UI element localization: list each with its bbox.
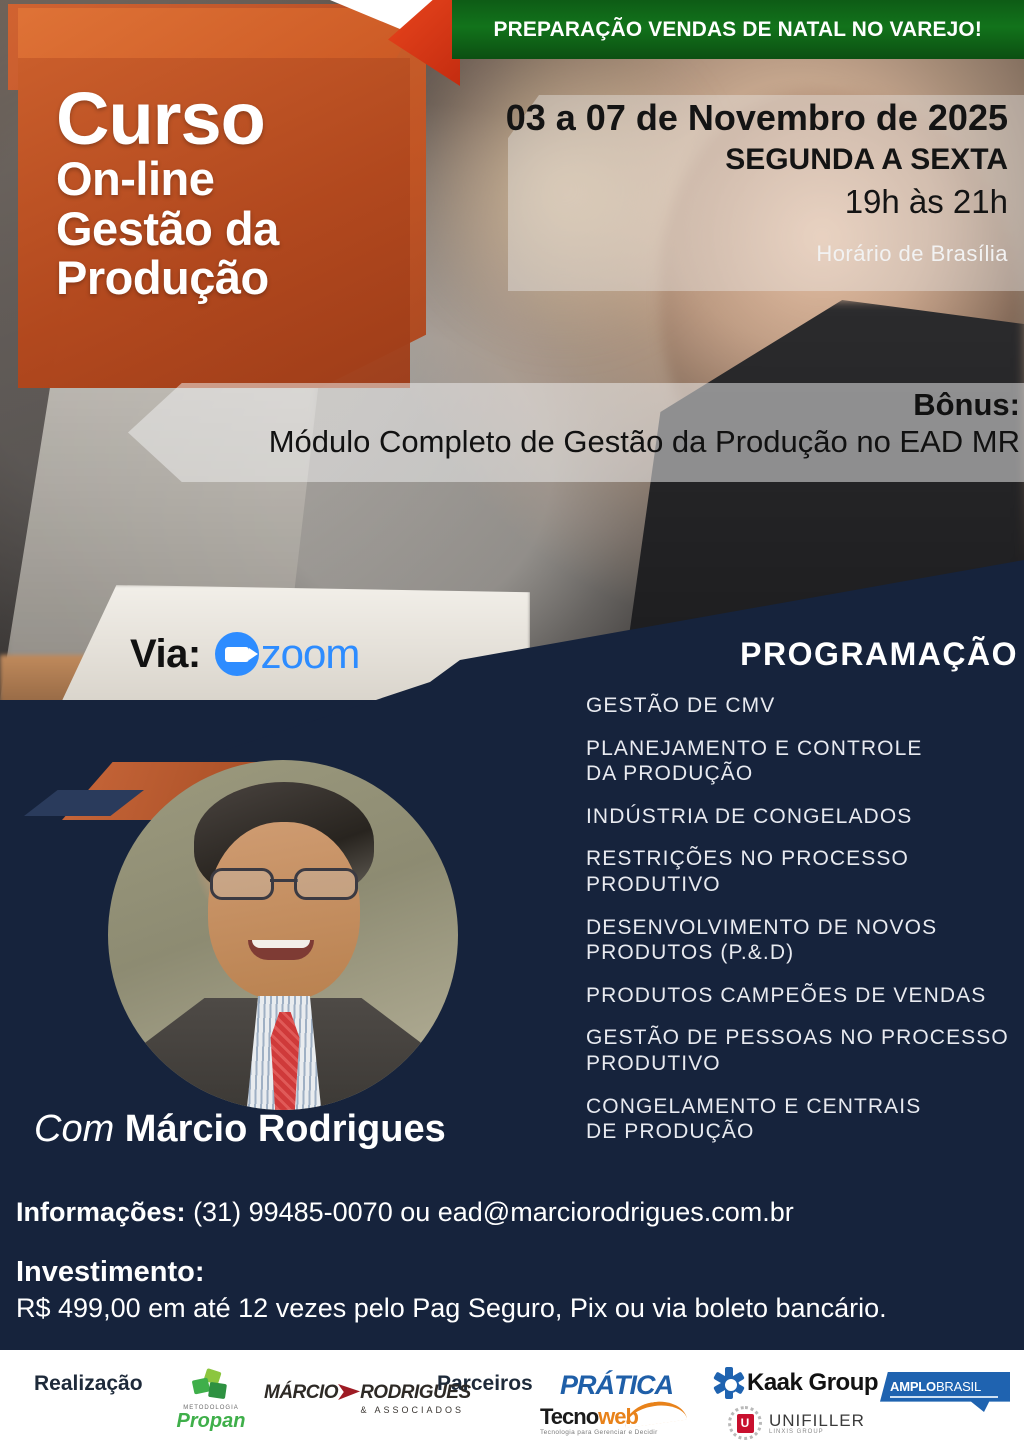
- program-title: PROGRAMAÇÃO: [586, 636, 1024, 673]
- logo-kaak-group: Kaak Group: [714, 1368, 878, 1398]
- avatar-face: [208, 822, 360, 1000]
- speaker-name: Márcio Rodrigues: [125, 1108, 446, 1150]
- program-item: RESTRIÇÕES NO PROCESSOPRODUTIVO: [586, 846, 1024, 897]
- course-title-block: Curso On-line Gestão da Produção: [18, 58, 410, 388]
- contact-value: (31) 99485-0070 ou ead@marciorodrigues.c…: [193, 1197, 794, 1227]
- speaker-avatar: [108, 760, 458, 1110]
- tecnoweb-word1: Tecno: [540, 1404, 598, 1429]
- mr-word-left: MÁRCIO: [264, 1382, 338, 1403]
- course-title-line1: Curso: [56, 84, 410, 154]
- course-title-line2: On-line: [56, 154, 410, 203]
- investment-row: R$ 499,00 em até 12 vezes pelo Pag Segur…: [16, 1293, 1016, 1324]
- contact-label: Informações:: [16, 1197, 186, 1227]
- tecnoweb-subtitle: Tecnologia para Gerenciar e Decidir: [540, 1429, 705, 1436]
- logo-propan: METODOLOGIA Propan: [163, 1370, 259, 1431]
- snowflake-icon: [714, 1368, 744, 1398]
- investment-terms: em até 12 vezes pelo Pag Seguro, Pix ou …: [148, 1293, 886, 1323]
- amplo-rule: [890, 1396, 998, 1398]
- program-item: GESTÃO DE CMV: [586, 693, 1024, 719]
- course-title-line4: Produção: [56, 253, 410, 302]
- mr-word-right: RODRIGUES: [360, 1382, 471, 1403]
- zoom-logo: zoom: [215, 630, 360, 678]
- mr-subtitle: & ASSOCIADOS: [264, 1405, 464, 1415]
- platform-label: Via:: [130, 632, 201, 677]
- logo-unifiller: U UNIFILLER LINXIS GROUP: [728, 1406, 865, 1440]
- bonus-label: Bônus:: [128, 389, 1020, 422]
- program-item: DESENVOLVIMENTO DE NOVOSPRODUTOS (P.&.D): [586, 915, 1024, 966]
- schedule-hours: 19h às 21h: [490, 181, 1008, 224]
- platform-row: Via: zoom: [130, 630, 359, 678]
- investment-price: R$ 499,00: [16, 1293, 141, 1323]
- propan-mark-icon: [191, 1370, 231, 1404]
- info-section: Informações: (31) 99485-0070 ou ead@marc…: [16, 1196, 1016, 1324]
- program-item: PLANEJAMENTO E CONTROLEDA PRODUÇÃO: [586, 736, 1024, 787]
- propan-wordmark: Propan: [163, 1411, 259, 1431]
- eyeglasses-icon: [208, 868, 360, 894]
- program-section: PROGRAMAÇÃO GESTÃO DE CMV PLANEJAMENTO E…: [586, 636, 1024, 1162]
- promo-banner-text: PREPARAÇÃO VENDAS DE NATAL NO VAREJO!: [494, 17, 982, 42]
- logo-marcio-rodrigues: MÁRCIORODRIGUES & ASSOCIADOS: [264, 1382, 464, 1415]
- program-item: CONGELAMENTO E CENTRAISDE PRODUÇÃO: [586, 1094, 1024, 1145]
- amplo-word1: AMPLO: [890, 1379, 936, 1394]
- schedule-days: SEGUNDA A SEXTA: [490, 140, 1008, 181]
- kaak-wordmark: Kaak Group: [747, 1369, 878, 1397]
- investment-label: Investimento:: [16, 1256, 1016, 1289]
- arrow-icon: [338, 1384, 360, 1400]
- program-item: GESTÃO DE PESSOAS NO PROCESSOPRODUTIVO: [586, 1025, 1024, 1076]
- course-title-line3: Gestão da: [56, 204, 410, 253]
- amplo-word2: BRASIL: [936, 1379, 981, 1394]
- schedule-dates: 03 a 07 de Novembro de 2025: [490, 95, 1008, 140]
- footer-logos-bar: Realização Parceiros METODOLOGIA Propan …: [0, 1350, 1024, 1449]
- schedule-timezone: Horário de Brasília: [490, 241, 1008, 267]
- unifiller-wordmark: UNIFILLER: [769, 1412, 865, 1429]
- unifiller-mark: U: [737, 1414, 754, 1433]
- realizacao-label: Realização: [34, 1372, 143, 1396]
- bonus-description: Módulo Completo de Gestão da Produção no…: [128, 424, 1020, 460]
- bonus-strip: Bônus: Módulo Completo de Gestão da Prod…: [128, 383, 1024, 482]
- speaker-name-row: Com Márcio Rodrigues: [34, 1108, 446, 1151]
- flyer-poster: PREPARAÇÃO VENDAS DE NATAL NO VAREJO! Cu…: [0, 0, 1024, 1449]
- avatar-smile: [248, 940, 314, 960]
- contact-row: Informações: (31) 99485-0070 ou ead@marc…: [16, 1196, 1016, 1228]
- video-camera-icon: [215, 632, 259, 676]
- logo-amplo-brasil: AMPLOBRASIL: [880, 1372, 1010, 1412]
- program-item: INDÚSTRIA DE CONGELADOS: [586, 804, 1024, 830]
- zoom-wordmark: zoom: [261, 630, 360, 678]
- program-item: PRODUTOS CAMPEÕES DE VENDAS: [586, 983, 1024, 1009]
- unifiller-dots-icon: U: [728, 1406, 762, 1440]
- promo-banner: PREPARAÇÃO VENDAS DE NATAL NO VAREJO!: [452, 0, 1024, 59]
- logo-tecnoweb: Tecnoweb Tecnologia para Gerenciar e Dec…: [540, 1406, 705, 1436]
- schedule-panel: 03 a 07 de Novembro de 2025 SEGUNDA A SE…: [490, 95, 1024, 345]
- speaker-prefix: Com: [34, 1108, 114, 1150]
- logo-pratica: PRÁTICA: [560, 1370, 673, 1401]
